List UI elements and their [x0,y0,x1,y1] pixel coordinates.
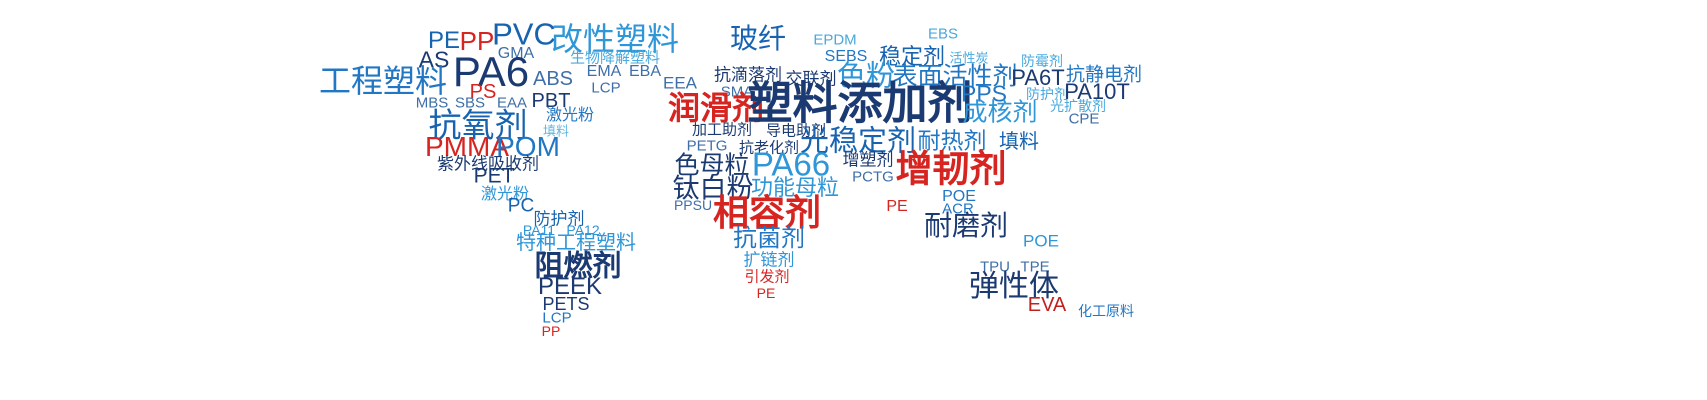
word-cloud-term[interactable]: 增韧剂 [896,151,1007,188]
word-cloud-term[interactable]: 扩链剂 [744,252,795,269]
word-cloud-canvas: PEPPPVCGMA改性塑料玻纤EPDMEBSAS生物降解塑料SEBS稳定剂活性… [0,0,1707,400]
word-cloud-term[interactable]: 成核剂 [962,101,1037,126]
word-cloud-term[interactable]: 耐磨剂 [924,212,1008,240]
word-cloud-term[interactable]: EMA [587,64,622,80]
word-cloud-term[interactable]: PE [757,286,776,300]
word-cloud-term[interactable]: 抗菌剂 [733,227,805,251]
word-cloud-term[interactable]: LCP [591,81,620,96]
word-cloud-term[interactable]: 加工助剂 [692,123,752,138]
word-cloud-term[interactable]: PP [542,324,561,338]
word-cloud-term[interactable]: EPDM [813,33,856,48]
word-cloud-term[interactable]: EBA [629,64,661,80]
word-cloud-term[interactable]: 引发剂 [744,270,789,285]
word-cloud-term[interactable]: EEA [663,75,697,92]
word-cloud-term[interactable]: 工程塑料 [319,65,447,97]
word-cloud-term[interactable]: CPE [1069,112,1100,127]
word-cloud-term[interactable]: ABS [533,69,573,89]
word-cloud-term[interactable]: PET [474,166,515,187]
word-cloud-term[interactable]: POE [1023,233,1059,250]
word-cloud-term[interactable]: 增塑剂 [843,152,894,169]
word-cloud-term[interactable]: PPSU [674,198,712,212]
word-cloud-term[interactable]: PC [508,197,534,216]
word-cloud-term[interactable]: 激光粉 [546,108,594,124]
word-cloud-term[interactable]: PE [886,199,907,215]
word-cloud-term[interactable]: 玻纤 [730,25,786,53]
word-cloud-term[interactable]: EBS [928,27,958,42]
word-cloud-term[interactable]: PCTG [852,170,894,185]
word-cloud-term[interactable]: 化工原料 [1078,304,1134,318]
word-cloud-term[interactable]: EVA [1028,295,1067,315]
word-cloud-term[interactable]: 塑料添加剂 [747,81,972,126]
